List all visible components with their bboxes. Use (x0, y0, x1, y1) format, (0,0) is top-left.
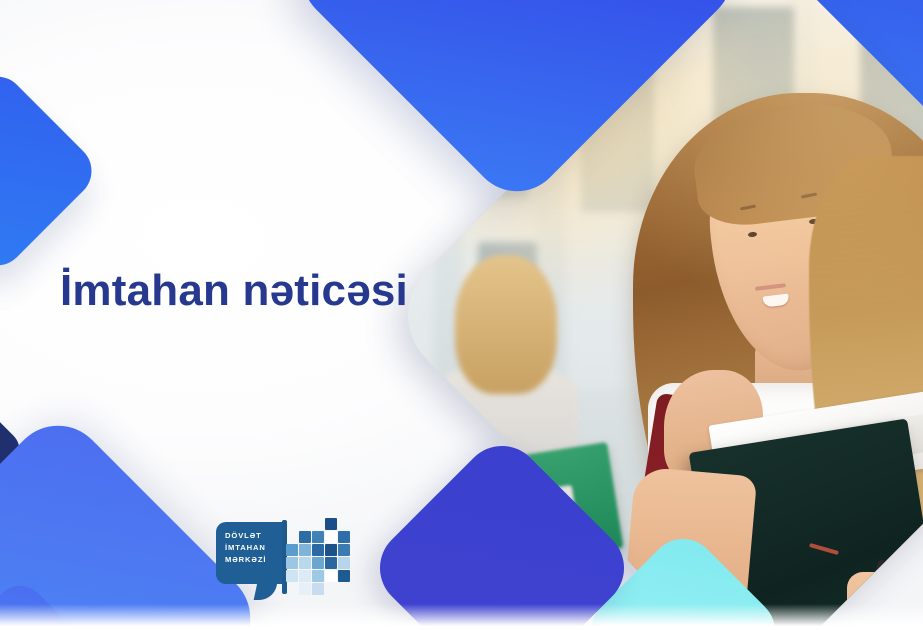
logo-mosaic-cell (312, 583, 324, 595)
logo-line-3: MƏRKƏZİ (225, 554, 283, 566)
logo-mosaic-cell (286, 518, 298, 530)
logo-mosaic-cell (338, 570, 350, 582)
logo-mosaic-cell (312, 531, 324, 543)
logo-mosaic-cell (325, 583, 337, 595)
logo-mosaic-cell (286, 544, 298, 556)
logo-mosaic-cell (286, 570, 298, 582)
logo-mosaic-cell (286, 557, 298, 569)
logo-mosaic-cell (325, 518, 337, 530)
logo-pixel-mosaic (286, 518, 346, 594)
logo-mosaic-cell (338, 544, 350, 556)
logo-mosaic-cell (312, 544, 324, 556)
logo-mosaic-cell (325, 544, 337, 556)
logo-mosaic-cell (325, 557, 337, 569)
logo-mosaic-cell (286, 583, 298, 595)
logo-mosaic-cell (338, 583, 350, 595)
logo-mosaic-cell (299, 518, 311, 530)
logo[interactable]: DÖVLƏT İMTAHAN MƏRKƏZİ (216, 516, 346, 608)
banner-root: İmtahan nəticəsi DÖVLƏT İMTAHAN MƏRKƏZİ (0, 0, 923, 630)
logo-mosaic-cell (312, 570, 324, 582)
logo-mosaic-cell (299, 583, 311, 595)
logo-mosaic-cell (312, 518, 324, 530)
logo-mosaic-cell (299, 570, 311, 582)
logo-mosaic-cell (338, 518, 350, 530)
logo-line-1: DÖVLƏT (225, 530, 283, 542)
page-title: İmtahan nəticəsi (60, 266, 408, 316)
foreground-student (610, 80, 923, 630)
logo-mosaic-cell (325, 570, 337, 582)
logo-mosaic-cell (325, 531, 337, 543)
logo-bubble-tail (254, 578, 279, 600)
logo-mosaic-cell (299, 531, 311, 543)
logo-mosaic-cell (312, 557, 324, 569)
logo-mosaic-cell (299, 557, 311, 569)
logo-mosaic-cell (338, 531, 350, 543)
logo-mosaic-cell (286, 531, 298, 543)
logo-line-2: İMTAHAN (225, 542, 283, 554)
logo-mosaic-cell (299, 544, 311, 556)
logo-mosaic-cell (338, 557, 350, 569)
